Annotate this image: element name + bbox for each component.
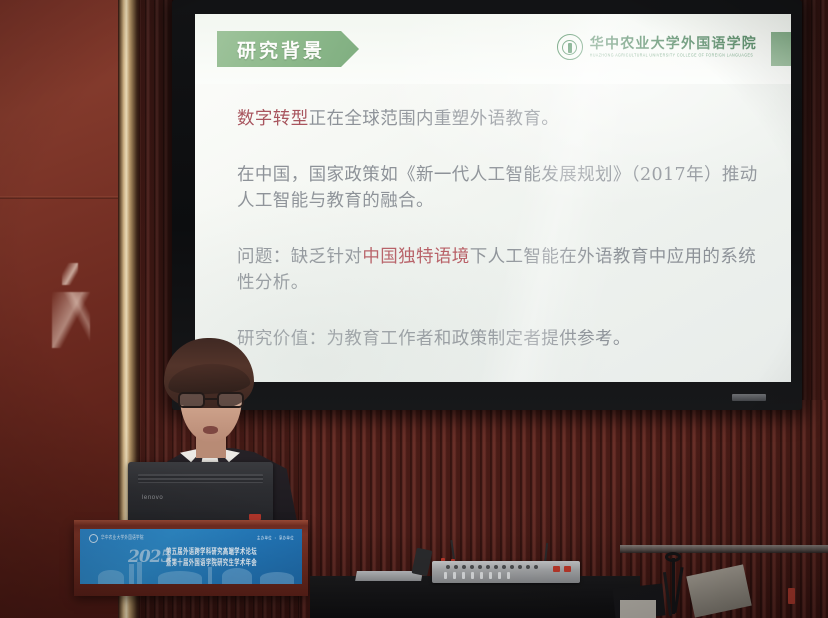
mixer-fader[interactable] <box>471 572 474 579</box>
banner-meta-text: 主办单位 ・ 承办单位 <box>257 534 294 541</box>
line1-highlight: 数字转型 <box>237 109 309 129</box>
glasses-lens-right <box>217 392 244 408</box>
audio-mixer[interactable] <box>432 561 580 583</box>
slide-line-3: 问题：缺乏针对中国独特语境下人工智能在外语教育中应用的系统性分析。 <box>237 244 765 297</box>
display-brand-badge <box>732 394 766 401</box>
skyline-tower <box>208 567 212 584</box>
presenter-mouth <box>203 426 218 434</box>
line3-prefix: 问题：缺乏针对 <box>237 247 362 267</box>
mixer-fader[interactable] <box>480 572 483 579</box>
university-seal-icon <box>557 34 583 60</box>
wall-glare <box>52 292 90 348</box>
banner-org-logo: 华中农业大学外国语学院 <box>89 534 144 543</box>
mixer-knob[interactable] <box>478 565 482 569</box>
line1-rest: 正在全球范围内重塑外语教育。 <box>309 109 560 129</box>
monitor-vent <box>138 474 263 483</box>
mixer-knob[interactable] <box>510 565 514 569</box>
mixer-fader[interactable] <box>489 572 492 579</box>
mic-clip-icon <box>665 552 681 562</box>
slide-surface: 研究背景 华中农业大学外国语学院 HUAZHONG AGRICULTURAL U… <box>195 14 791 382</box>
mixer-fader[interactable] <box>498 572 501 579</box>
slide-title-tag: 研究背景 <box>217 31 359 67</box>
podium: 华中农业大学外国语学院 2025 第五届外语跨学科研究高端学术论坛 暨第十届外国… <box>74 524 308 596</box>
mixer-fader-row[interactable] <box>444 572 510 579</box>
skyline-tower <box>129 564 134 584</box>
mixer-knob[interactable] <box>502 565 506 569</box>
mixer-knob[interactable] <box>446 565 450 569</box>
mixer-knob[interactable] <box>494 565 498 569</box>
slide-line-2: 在中国，国家政策如《新一代人工智能发展规划》（2017年）推动人工智能与教育的融… <box>237 162 765 215</box>
lenovo-monitor[interactable]: lenovo <box>128 462 273 528</box>
wall-rail <box>620 545 828 553</box>
wall-seam <box>0 196 132 199</box>
mixer-fader[interactable] <box>507 572 510 579</box>
mixer-knob[interactable] <box>454 565 458 569</box>
banner-org-name: 华中农业大学外国语学院 <box>101 535 144 542</box>
logo-text-group: 华中农业大学外国语学院 HUAZHONG AGRICULTURAL UNIVER… <box>590 37 757 58</box>
mixer-knob[interactable] <box>470 565 474 569</box>
logo-english-name: HUAZHONG AGRICULTURAL UNIVERSITY COLLEGE… <box>590 54 757 58</box>
grey-box <box>620 600 656 618</box>
podium-banner: 华中农业大学外国语学院 2025 第五届外语跨学科研究高端学术论坛 暨第十届外国… <box>80 529 302 584</box>
mixer-fader[interactable] <box>462 572 465 579</box>
slide-body: 数字转型正在全球范围内重塑外语教育。 在中国，国家政策如《新一代人工智能发展规划… <box>237 106 765 353</box>
mixer-fader[interactable] <box>453 572 456 579</box>
slide-line-1: 数字转型正在全球范围内重塑外语教育。 <box>237 106 765 133</box>
seal-inner-mark <box>562 40 577 55</box>
skyline-dome <box>98 570 124 584</box>
university-logo: 华中农业大学外国语学院 HUAZHONG AGRICULTURAL UNIVER… <box>557 34 757 60</box>
slide-title-text: 研究背景 <box>237 36 325 63</box>
mixer-knob[interactable] <box>486 565 490 569</box>
banner-year: 2025 <box>128 547 171 567</box>
mixer-knob[interactable] <box>526 565 530 569</box>
line3-highlight: 中国独特语境 <box>362 247 469 267</box>
skyline-dome <box>158 571 202 584</box>
mixer-indicator <box>564 566 571 572</box>
slide-header: 研究背景 华中农业大学外国语学院 HUAZHONG AGRICULTURAL U… <box>195 14 791 84</box>
banner-seal-icon <box>89 534 98 543</box>
skyline-dome <box>222 568 252 584</box>
glasses-bridge <box>205 398 217 400</box>
mixer-knob[interactable] <box>534 565 538 569</box>
glasses-lens-left <box>178 392 205 408</box>
logo-chinese-name: 华中农业大学外国语学院 <box>590 37 757 51</box>
banner-title-line-1: 第五届外语跨学科研究高端学术论坛 <box>166 546 257 557</box>
skyline-dome <box>260 572 294 584</box>
banner-title-line-2: 暨第十届外国语学院研究生学术年会 <box>166 557 257 568</box>
mixer-knob-row[interactable] <box>446 565 538 569</box>
glasses-icon <box>178 392 246 409</box>
mixer-fader[interactable] <box>444 572 447 579</box>
wall-glare-secondary <box>62 263 78 285</box>
lecture-hall-scene: 研究背景 华中农业大学外国语学院 HUAZHONG AGRICULTURAL U… <box>0 0 828 618</box>
podium-top-edge <box>74 520 308 526</box>
mixer-knob[interactable] <box>518 565 522 569</box>
header-accent-block <box>771 32 791 66</box>
monitor-brand-label: lenovo <box>142 495 163 501</box>
slide-line-4: 研究价值：为教育工作者和政策制定者提供参考。 <box>237 326 765 353</box>
mixer-knob[interactable] <box>462 565 466 569</box>
red-marker-object <box>788 588 795 604</box>
mixer-indicator <box>553 566 560 572</box>
